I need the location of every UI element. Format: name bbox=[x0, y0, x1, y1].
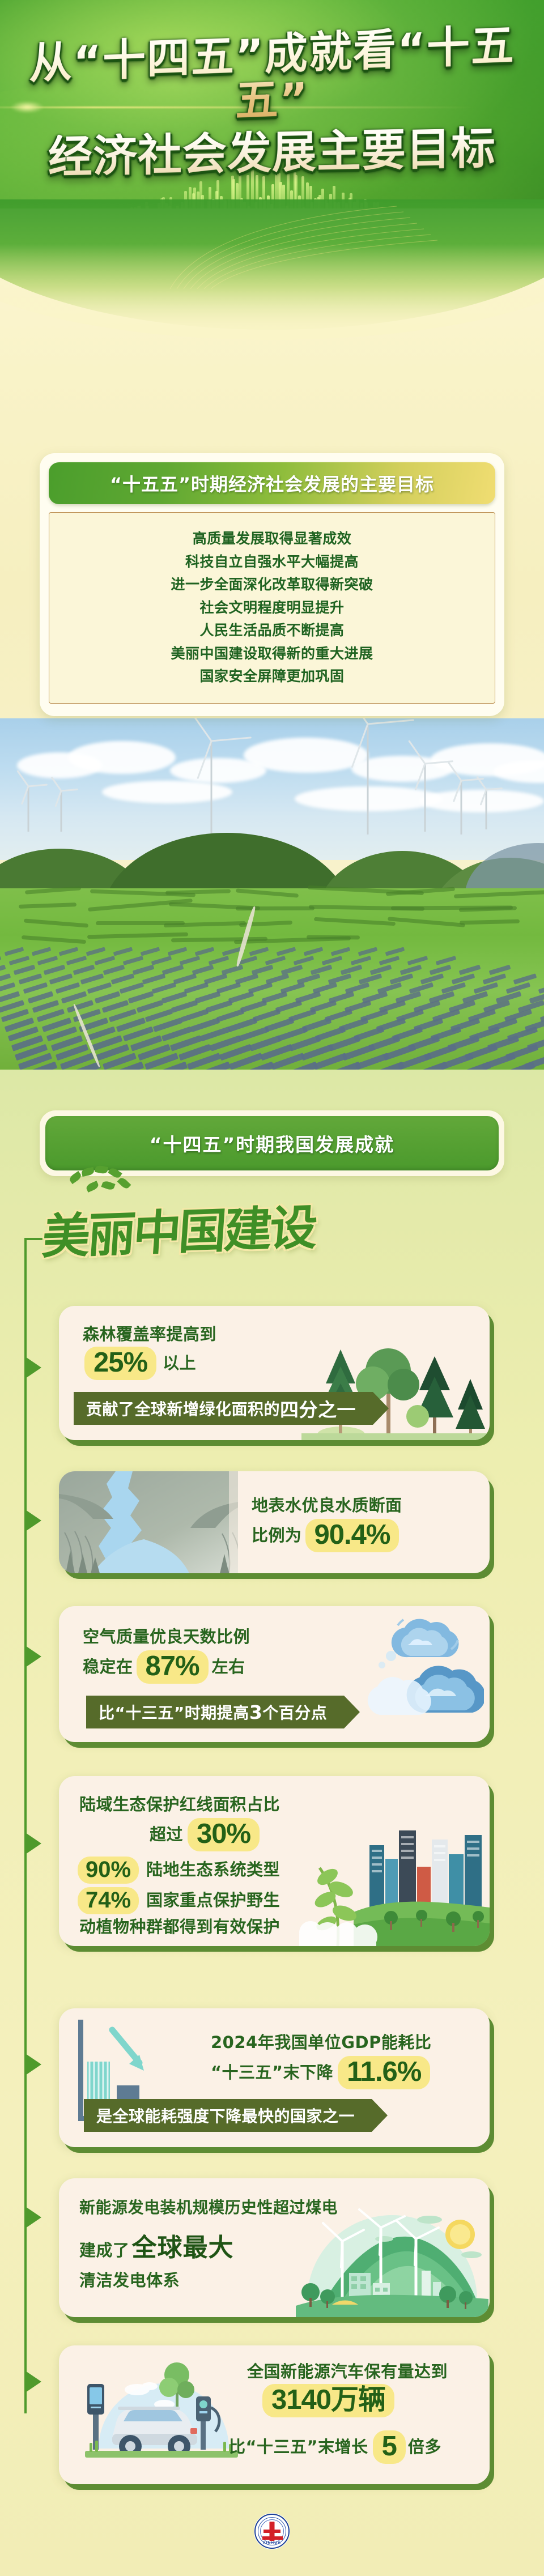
goal-item: 美丽中国建设取得新的重大进展 bbox=[55, 642, 489, 666]
forest-value: 25% bbox=[84, 1347, 156, 1380]
stat-card-energy: 2024年我国单位GDP能耗比 “十三五”末下降 11.6% 是全球能耗强度下降… bbox=[59, 2008, 490, 2147]
calligraphy-title: 美丽中国建设 bbox=[43, 1177, 360, 1279]
timeline-marker-forest bbox=[25, 1357, 41, 1378]
energy-value: 11.6% bbox=[338, 2056, 430, 2089]
goal-item: 国家安全屏障更加巩固 bbox=[55, 665, 489, 688]
forest-banner-pre: 贡献了全球新增绿化面积的 bbox=[86, 1397, 280, 1420]
stat-card-water: 地表水优良水质断面 比例为 90.4% bbox=[59, 1471, 490, 1573]
section2-header-inner: “十四五”时期我国发展成就 bbox=[45, 1116, 499, 1170]
ecology-row2-value: 74% bbox=[78, 1887, 139, 1914]
hero-title-block: 从“十四五”成就看“十五五” 经济社会发展主要目标 bbox=[0, 32, 544, 176]
stat-card-ecology: 陆域生态保护红线面积占比 超过 30% 90% 陆地生态系统类型 74% 国家重… bbox=[59, 1776, 490, 1946]
forest-line1: 森林覆盖率提高到 bbox=[83, 1323, 216, 1346]
goal-item: 高质量发展取得显著成效 bbox=[55, 527, 489, 551]
power-line2-pre: 建成了 bbox=[79, 2239, 130, 2262]
energy-line1: 2024年我国单位GDP能耗比 bbox=[211, 2031, 431, 2054]
energy-banner: 是全球能耗强度下降最快的国家之一 bbox=[84, 2099, 372, 2132]
air-line2-post: 左右 bbox=[212, 1655, 245, 1679]
stat-card-air: 空气质量优良天数比例 稳定在 87% 左右 比“十三五”时期提高3个百分点 bbox=[59, 1606, 490, 1742]
goal-item: 人民生活品质不断提高 bbox=[55, 619, 489, 642]
ecology-line1: 陆域生态保护红线面积占比 bbox=[79, 1793, 280, 1816]
power-line1: 新能源发电装机规模历史性超过煤电 bbox=[79, 2196, 338, 2219]
air-banner-pre: 比“十三五”时期提高 bbox=[99, 1701, 249, 1723]
timeline-marker-ev bbox=[25, 2371, 41, 2392]
ecology-row3-text: 动植物种群都得到有效保护 bbox=[79, 1915, 280, 1939]
goal-item: 科技自立自强水平大幅提高 bbox=[55, 551, 489, 574]
power-line2-strong: 全球最大 bbox=[132, 2227, 234, 2263]
ecology-value: 30% bbox=[188, 1818, 260, 1851]
ev-value: 3140万辆 bbox=[262, 2384, 394, 2417]
air-banner: 比“十三五”时期提高3个百分点 bbox=[86, 1696, 344, 1728]
ev-value2: 5 bbox=[373, 2430, 406, 2464]
xinhua-logo: XINHUA bbox=[254, 2514, 290, 2549]
timeline-marker-ecology bbox=[25, 1833, 41, 1854]
landscape-photo bbox=[0, 718, 544, 1070]
air-banner-post: 个百分点 bbox=[262, 1701, 327, 1723]
river-icon bbox=[59, 1471, 246, 1573]
timeline-marker-energy bbox=[25, 2054, 41, 2075]
goals-list: 高质量发展取得显著成效 科技自立自强水平大幅提高 进一步全面深化改革取得新突破 … bbox=[49, 512, 495, 704]
air-value: 87% bbox=[137, 1650, 209, 1684]
ecology-row1-value: 90% bbox=[78, 1857, 139, 1884]
goals-card-header: “十五五”时期经济社会发展的主要目标 bbox=[49, 462, 495, 504]
water-line1: 地表水优良水质断面 bbox=[252, 1494, 402, 1517]
goals-card-title: “十五五”时期经济社会发展的主要目标 bbox=[110, 470, 434, 496]
forest-banner: 贡献了全球新增绿化面积的四分之一 bbox=[74, 1392, 373, 1425]
air-line2-pre: 稳定在 bbox=[83, 1655, 133, 1679]
ev-line3-pre: 比“十三五”末增长 bbox=[229, 2436, 368, 2459]
stat-card-power: 新能源发电装机规模历史性超过煤电 建成了 全球最大 清洁发电体系 bbox=[59, 2178, 490, 2317]
stat-card-forest: 森林覆盖率提高到 25% 以上 贡献了全球新增绿化面积的四分之一 bbox=[59, 1306, 490, 1440]
ev-line1: 全国新能源汽车保有量达到 bbox=[247, 2360, 448, 2383]
water-line2-pre: 比例为 bbox=[252, 1524, 302, 1547]
timeline-marker-water bbox=[25, 1510, 41, 1531]
goal-item: 社会文明程度明显提升 bbox=[55, 597, 489, 620]
photo-solar-panels bbox=[0, 945, 544, 1070]
goal-item: 进一步全面深化改革取得新突破 bbox=[55, 573, 489, 597]
ecology-row2-text: 国家重点保护野生 bbox=[146, 1889, 280, 1912]
city-icon bbox=[286, 1804, 490, 1946]
ecology-row1-text: 陆地生态系统类型 bbox=[146, 1858, 280, 1881]
timeline-marker-air bbox=[25, 1646, 41, 1667]
page-title-line1: 从“十四五”成就看“十五五” bbox=[0, 22, 544, 133]
energy-banner-pre: 是全球能耗强度下降最快的国家之一 bbox=[96, 2104, 355, 2127]
hero-header: 从“十四五”成就看“十五五” 经济社会发展主要目标 bbox=[0, 0, 544, 227]
stat-card-ev: 全国新能源汽车保有量达到 3140万辆 比“十三五”末增长 5 倍多 bbox=[59, 2345, 490, 2484]
logo-tower-bar-1 bbox=[263, 2530, 280, 2533]
power-line3: 清洁发电体系 bbox=[79, 2269, 180, 2292]
goals-card: “十五五”时期经济社会发展的主要目标 高质量发展取得显著成效 科技自立自强水平大… bbox=[40, 453, 504, 716]
energy-line2-pre: “十三五”末下降 bbox=[211, 2061, 333, 2084]
section2-title: “十四五”时期我国发展成就 bbox=[150, 1130, 394, 1157]
page-title-line2: 经济社会发展主要目标 bbox=[0, 125, 544, 182]
air-banner-strong: 3 bbox=[249, 1701, 262, 1723]
timeline-marker-power bbox=[25, 2207, 41, 2228]
logo-text: XINHUA bbox=[256, 2541, 288, 2545]
timeline-line bbox=[24, 1238, 27, 2413]
ecology-line2-pre: 超过 bbox=[150, 1823, 183, 1846]
forest-line2-post: 以上 bbox=[163, 1352, 196, 1375]
forest-banner-strong: 四分之一 bbox=[280, 1395, 356, 1422]
infographic-page: 从“十四五”成就看“十五五” 经济社会发展主要目标 “十五五”时期经济社会发展的… bbox=[0, 0, 544, 2576]
calligraphy-text: 美丽中国建设 bbox=[40, 1189, 318, 1267]
water-value: 90.4% bbox=[305, 1519, 399, 1552]
air-line1: 空气质量优良天数比例 bbox=[83, 1625, 250, 1649]
ev-line3-post: 倍多 bbox=[408, 2436, 441, 2459]
section2-header: “十四五”时期我国发展成就 bbox=[40, 1110, 504, 1176]
logo-tower-bar-2 bbox=[262, 2536, 283, 2540]
